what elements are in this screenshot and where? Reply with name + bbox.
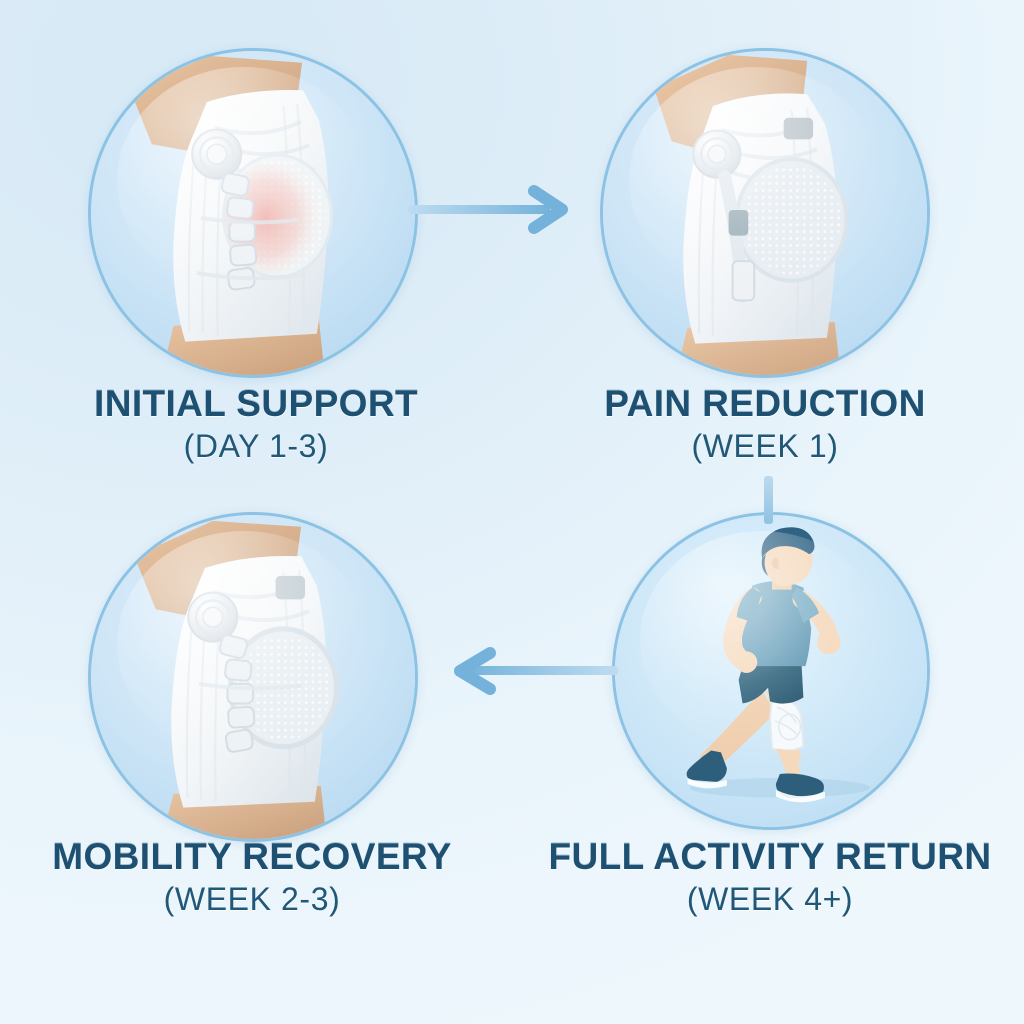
step-1-circle <box>88 48 418 378</box>
step-3-circle <box>88 512 418 842</box>
step-3-title: MOBILITY RECOVERY <box>0 838 512 876</box>
arrow-step4-to-step3 <box>432 645 618 697</box>
connector-step2-to-step4 <box>764 476 773 524</box>
step-4-caption: FULL ACTIVITY RETURN (WEEK 4+) <box>510 838 1024 918</box>
step-3-caption: MOBILITY RECOVERY (WEEK 2-3) <box>0 838 512 918</box>
step-4-subtitle: (WEEK 4+) <box>510 882 1024 918</box>
brace-tag <box>276 576 305 600</box>
runner-back-shoe <box>687 750 727 781</box>
step-2-circle <box>600 48 930 378</box>
step-1-title: INITIAL SUPPORT <box>0 385 516 423</box>
runner-illustration <box>615 515 927 827</box>
step-2-title: PAIN REDUCTION <box>505 385 1024 423</box>
arrow-step1-to-step2 <box>408 185 588 237</box>
step-1-caption: INITIAL SUPPORT (DAY 1-3) <box>0 385 516 465</box>
knee-brace-illustration-1 <box>91 51 415 375</box>
step-4-title: FULL ACTIVITY RETURN <box>510 838 1024 876</box>
runner-knee-brace <box>770 697 803 751</box>
infographic-canvas: INITIAL SUPPORT (DAY 1-3) <box>0 0 1024 1024</box>
brace-tag <box>784 118 813 140</box>
knee-brace-illustration-2 <box>603 51 927 375</box>
knee-brace-illustration-3 <box>91 515 415 839</box>
runner-fist <box>817 631 841 655</box>
step-4-circle <box>612 512 930 830</box>
step-2-caption: PAIN REDUCTION (WEEK 1) <box>505 385 1024 465</box>
step-1-subtitle: (DAY 1-3) <box>0 429 516 465</box>
step-2-subtitle: (WEEK 1) <box>505 429 1024 465</box>
step-3-subtitle: (WEEK 2-3) <box>0 882 512 918</box>
